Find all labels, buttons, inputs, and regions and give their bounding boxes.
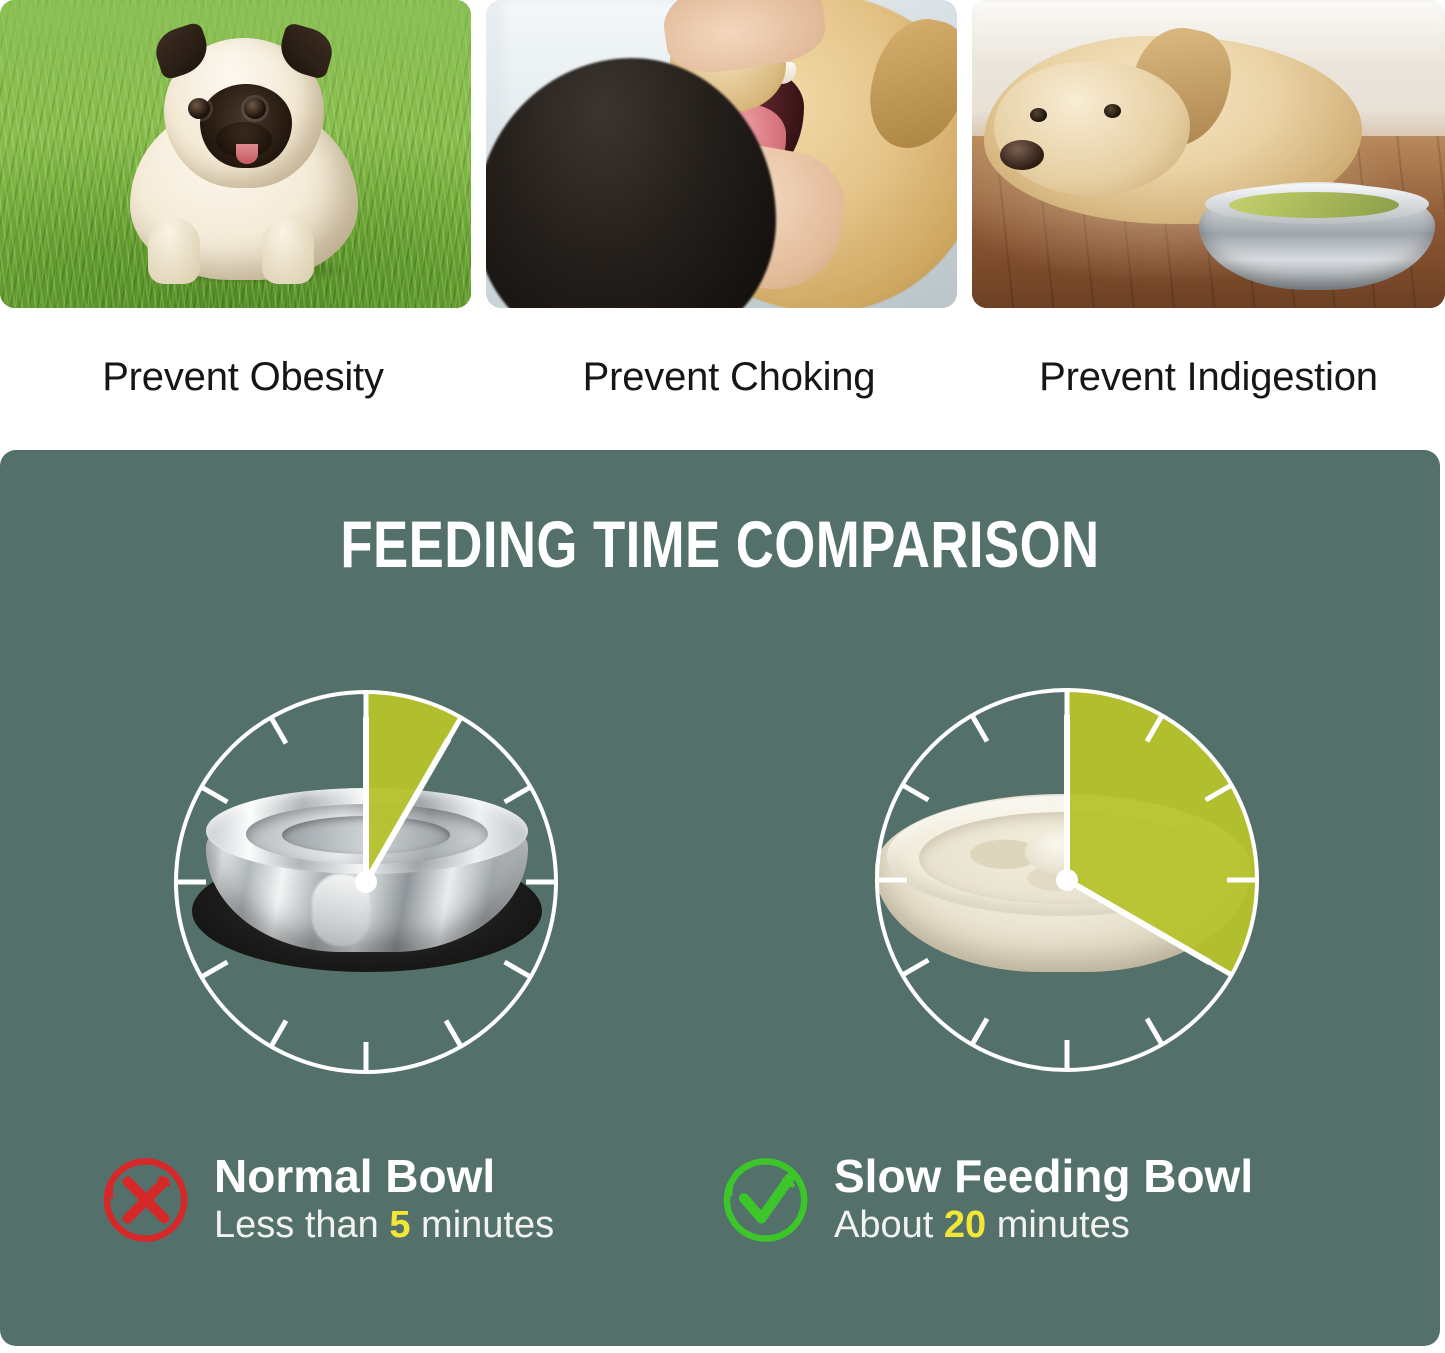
photo-hand-opening-dog-mouth xyxy=(486,0,957,308)
photo-dog-lying-by-bowl xyxy=(972,0,1445,308)
legend-sub-prefix: About xyxy=(834,1204,944,1246)
feature-photo-strip xyxy=(0,0,1445,308)
clock-dial-left xyxy=(164,680,568,1084)
legend-subtitle-slow-feeding-bowl: About 20 minutes xyxy=(834,1203,1253,1248)
panel-title: FEEDING TIME COMPARISON xyxy=(144,506,1296,582)
legend-title-normal-bowl: Normal Bowl xyxy=(214,1152,554,1200)
pug-front-leg-right xyxy=(262,218,314,284)
slow-feeding-bowl-clock xyxy=(865,678,1269,1082)
labrador-head xyxy=(994,62,1190,196)
legend-sub-suffix: minutes xyxy=(410,1204,554,1246)
legend-subtitle-normal-bowl: Less than 5 minutes xyxy=(214,1203,554,1248)
pug-eye-right xyxy=(244,98,266,119)
pug-tongue xyxy=(236,144,258,164)
clock-center-hub xyxy=(1056,869,1078,891)
photo-pug-on-grass xyxy=(0,0,471,308)
legend-title-slow-feeding-bowl: Slow Feeding Bowl xyxy=(834,1152,1253,1200)
pug-dog xyxy=(112,22,374,290)
legend-slow-feeding-bowl: Slow Feeding Bowl About 20 minutes xyxy=(720,1140,1420,1260)
caption-prevent-choking: Prevent Choking xyxy=(486,332,972,422)
clock-dial-right xyxy=(865,678,1269,1082)
photo-card-prevent-indigestion xyxy=(972,0,1445,308)
legend-sub-value: 20 xyxy=(944,1204,986,1246)
bowl-food xyxy=(1229,192,1399,218)
legend-sub-value: 5 xyxy=(389,1204,410,1246)
red-circle-x-icon xyxy=(100,1154,192,1246)
caption-prevent-indigestion: Prevent Indigestion xyxy=(972,332,1445,422)
labrador-eye-left xyxy=(1030,108,1047,122)
clock-center-hub xyxy=(355,871,377,893)
labrador-eye-right xyxy=(1104,104,1121,118)
labrador-nose xyxy=(1000,140,1044,170)
legend-sub-prefix: Less than xyxy=(214,1204,389,1246)
photo-captions: Prevent Obesity Prevent Choking Prevent … xyxy=(0,332,1445,422)
legend-sub-suffix: minutes xyxy=(986,1204,1130,1246)
steel-bowl-photo xyxy=(1199,182,1435,290)
pug-eye-left xyxy=(188,98,210,119)
caption-prevent-obesity: Prevent Obesity xyxy=(0,332,486,422)
green-circle-check-icon xyxy=(720,1154,812,1246)
photo-card-prevent-obesity xyxy=(0,0,471,308)
legend-normal-bowl: Normal Bowl Less than 5 minutes xyxy=(100,1140,720,1260)
pug-front-leg-left xyxy=(148,218,200,284)
normal-bowl-clock xyxy=(164,680,568,1084)
photo-card-prevent-choking xyxy=(486,0,957,308)
